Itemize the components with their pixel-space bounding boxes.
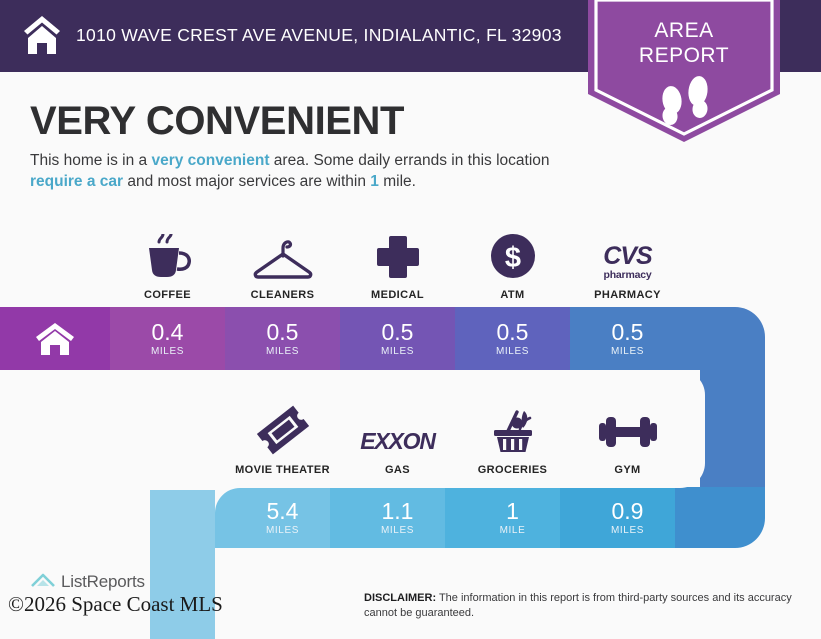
listreports-logo-text: ListReports [61,572,145,592]
distance-value: 0.4 [152,320,184,344]
distance-coffee: 0.4 MILES [110,307,225,370]
distance-gas: 1.1 MILES [340,487,455,548]
dumbbell-icon [597,403,659,455]
distance-unit: MILES [496,346,529,357]
distance-unit: MILES [381,525,414,536]
distance-unit: MILES [151,346,184,357]
distance-unit: MILE [500,525,526,536]
icon-cell-atm: $ ATM [455,228,570,301]
area-report-page: 1010 WAVE CREST AVE AVENUE, INDIALANTIC,… [0,0,821,639]
icon-label: CLEANERS [251,289,315,301]
ticket-icon [257,403,309,455]
svg-text:$: $ [504,242,520,274]
icon-label: PHARMACY [594,289,661,301]
band-home-marker [0,307,110,370]
header-address: 1010 WAVE CREST AVE AVENUE, INDIALANTIC,… [76,25,562,46]
distance-pharmacy: 0.5 MILES [570,307,685,370]
exxon-logo: EXXON [360,403,435,455]
row1-icons: COFFEE CLEANERS MEDICAL [110,228,685,301]
distance-atm: 0.5 MILES [455,307,570,370]
listreports-logo: ListReports [30,572,145,592]
icon-cell-cleaners: CLEANERS [225,228,340,301]
row2-distances: 5.4 MILES 1.1 MILES 1 MILE 0.9 MILES [225,487,685,548]
distance-cleaners: 0.5 MILES [225,307,340,370]
coffee-cup-icon [142,228,194,280]
medical-cross-icon [375,228,421,280]
distance-value: 0.5 [267,320,299,344]
basket-icon [487,403,539,455]
icon-label: ATM [500,289,524,301]
distance-value: 0.5 [382,320,414,344]
icon-cell-medical: MEDICAL [340,228,455,301]
page-description: This home is in a very convenient area. … [30,150,590,192]
dollar-circle-icon: $ [489,228,537,280]
desc-highlight-1: very convenient [151,152,269,169]
icon-label: MOVIE THEATER [235,464,330,476]
distance-unit: MILES [266,346,299,357]
distance-movie-theater: 5.4 MILES [225,487,340,548]
hanger-icon [252,228,314,280]
house-icon-svg [22,14,62,56]
badge-line-1: AREA [580,18,788,43]
cvs-pharmacy-logo: CVS pharmacy [603,228,651,280]
cvs-logo-main: CVS [603,244,651,269]
distance-groceries: 1 MILE [455,487,570,548]
distance-unit: MILES [611,346,644,357]
header-content: 1010 WAVE CREST AVE AVENUE, INDIALANTIC,… [22,14,562,56]
distance-unit: MILES [381,346,414,357]
disclaimer-label: DISCLAIMER: [364,592,436,604]
mls-watermark: ©2026 Space Coast MLS [8,592,223,617]
distance-unit: MILES [611,525,644,536]
band-white-left [0,370,216,490]
area-report-badge: AREA REPORT [580,0,788,144]
distance-value: 0.9 [612,499,644,523]
exxon-logo-text: EXXON [360,428,435,455]
icon-cell-pharmacy: CVS pharmacy PHARMACY [570,228,685,301]
cvs-logo-sub: pharmacy [603,270,651,281]
desc-highlight-2: require a car [30,173,123,190]
house-icon [22,14,62,56]
band-right-connector [700,370,765,487]
disclaimer: DISCLAIMER: The information in this repo… [364,591,794,621]
badge-text: AREA REPORT [580,18,788,68]
distance-medical: 0.5 MILES [340,307,455,370]
row2-icons: MOVIE THEATER EXXON GAS [225,403,685,476]
row1-distances: 0.4 MILES 0.5 MILES 0.5 MILES 0.5 MILES … [110,307,685,370]
distance-value: 1.1 [382,499,414,523]
icon-label: MEDICAL [371,289,424,301]
icon-cell-groceries: GROCERIES [455,403,570,476]
band-white-right [765,290,821,639]
icon-label: GAS [385,464,410,476]
icon-cell-gas: EXXON GAS [340,403,455,476]
desc-part-2: area. Some daily errands in this locatio… [270,152,550,169]
desc-part-1: This home is in a [30,152,151,169]
icon-cell-movie-theater: MOVIE THEATER [225,403,340,476]
desc-part-3: and most major services are within [123,173,370,190]
icon-label: COFFEE [144,289,191,301]
desc-highlight-3: 1 [370,173,379,190]
page-title: VERY CONVENIENT [30,99,404,144]
distance-unit: MILES [266,525,299,536]
listreports-house-icon [30,572,56,592]
icon-label: GROCERIES [478,464,548,476]
segment-turn-bottom [675,487,775,548]
segment-turn-top [685,307,775,370]
icon-label: GYM [614,464,640,476]
distance-value: 5.4 [267,499,299,523]
distance-gym: 0.9 MILES [570,487,685,548]
house-icon [34,322,76,356]
distance-value: 0.5 [497,320,529,344]
badge-line-2: REPORT [580,43,788,68]
icon-cell-coffee: COFFEE [110,228,225,301]
distance-value: 0.5 [612,320,644,344]
distance-value: 1 [506,499,519,523]
desc-part-4: mile. [379,173,416,190]
icon-cell-gym: GYM [570,403,685,476]
